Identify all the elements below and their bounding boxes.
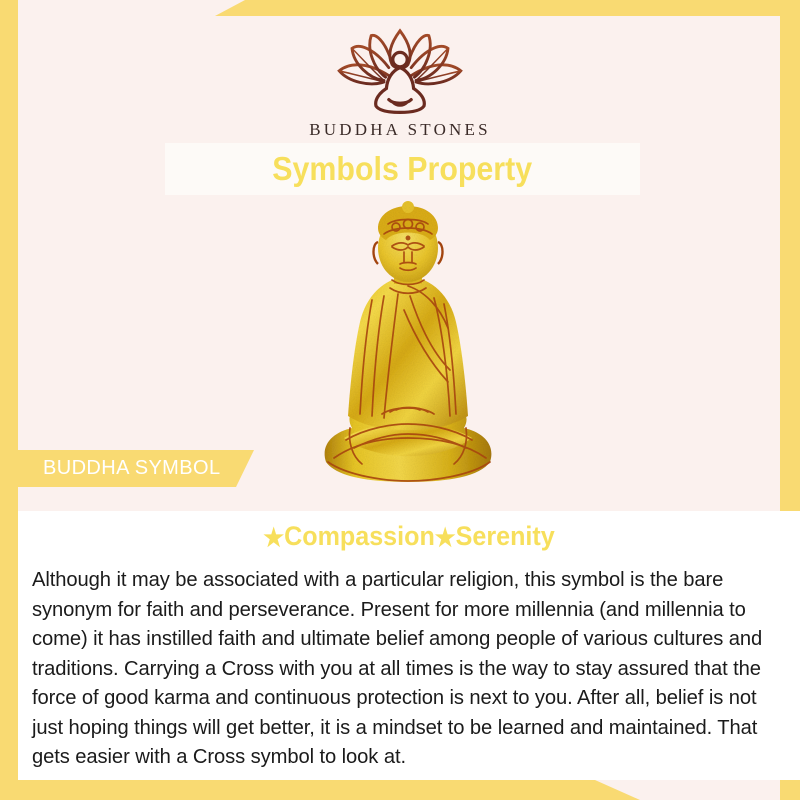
page-title-band: Symbols Property xyxy=(165,143,640,195)
section-ribbon: BUDDHA SYMBOL xyxy=(18,450,254,487)
section-subtitle: ★Compassion★Serenity xyxy=(45,521,772,553)
star-icon-right: ★ xyxy=(435,524,456,552)
section-ribbon-label: BUDDHA SYMBOL xyxy=(43,457,220,480)
page-title: Symbols Property xyxy=(273,150,533,188)
subtitle-word-compassion: Compassion xyxy=(284,521,435,551)
decorative-band-bottom xyxy=(0,780,640,800)
brand-logo: BUDDHA STONES xyxy=(0,26,800,140)
poster-page: BUDDHA STONES Symbols Property xyxy=(0,0,800,800)
lotus-meditation-icon xyxy=(320,26,480,118)
subtitle-word-serenity: Serenity xyxy=(456,521,555,551)
content-panel: ★Compassion★Serenity Although it may be … xyxy=(18,511,800,780)
decorative-band-top xyxy=(215,0,800,16)
section-body-text: Although it may be associated with a par… xyxy=(32,565,775,772)
brand-name: BUDDHA STONES xyxy=(309,120,491,140)
star-icon-left: ★ xyxy=(263,524,284,552)
golden-seated-buddha-icon xyxy=(300,200,515,490)
